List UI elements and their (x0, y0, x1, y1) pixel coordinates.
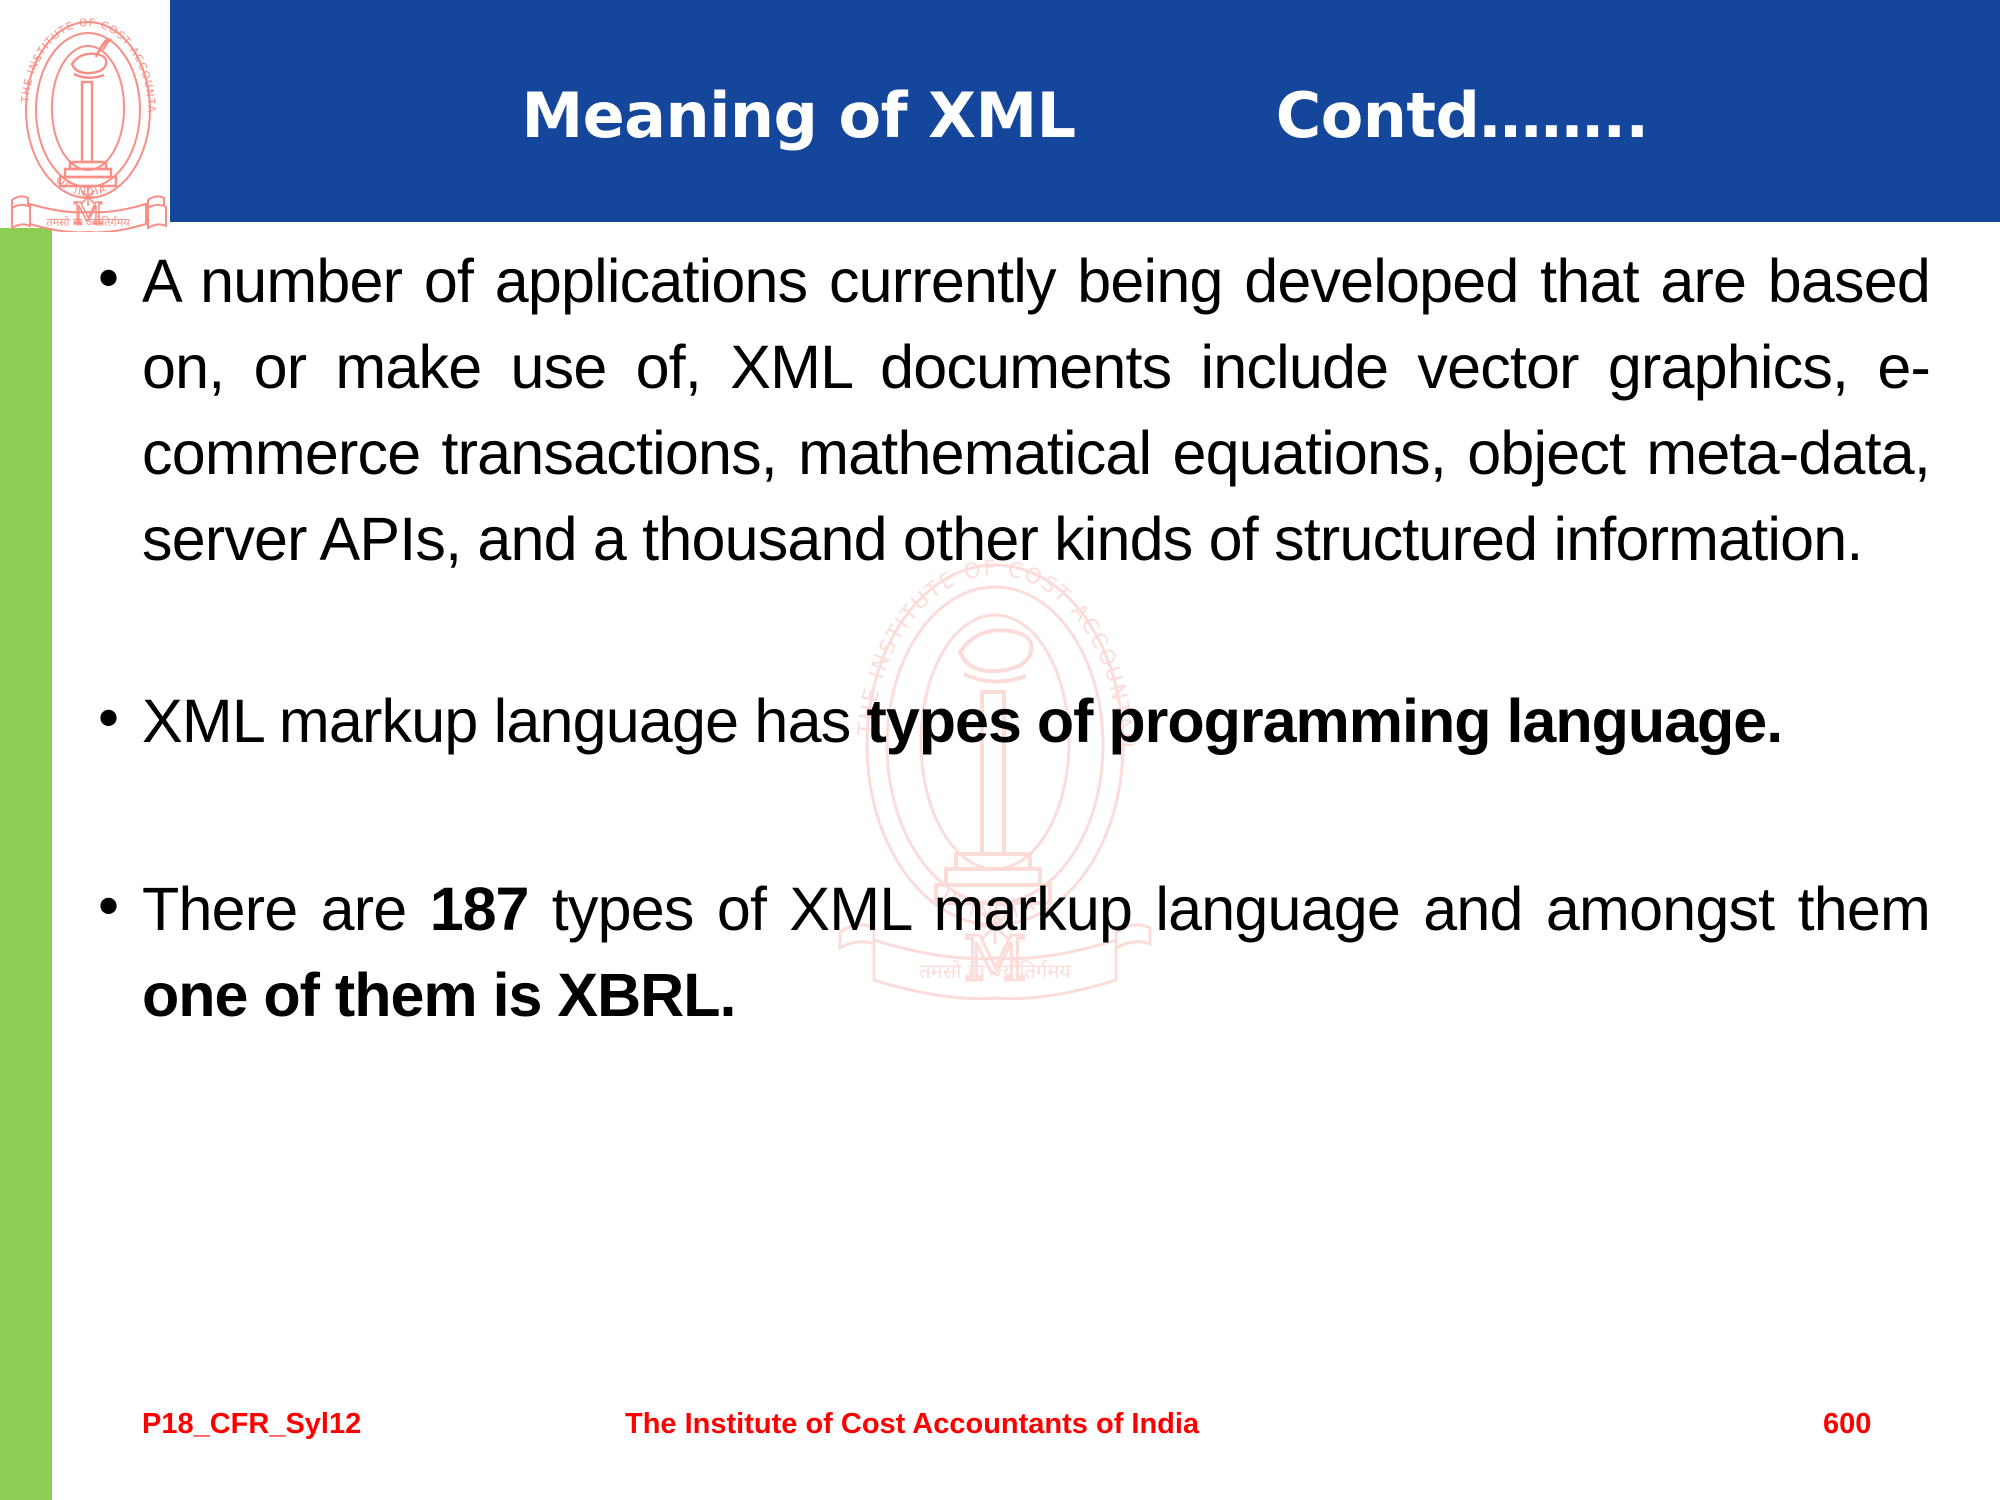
svg-text:M: M (73, 197, 104, 232)
title-inner: Meaning of XML Contd…….. (521, 79, 1648, 152)
bullet-text-1: A number of applications currently being… (142, 238, 1930, 582)
left-green-band (0, 228, 52, 1500)
list-item: • A number of applications currently bei… (70, 238, 1930, 582)
footer-institute-name: The Institute of Cost Accountants of Ind… (625, 1408, 1199, 1441)
list-item: • XML markup language has types of progr… (70, 678, 1930, 764)
icai-logo: THE INSTITUTE OF COST ACCOUNTANTS OF IND… (8, 2, 168, 232)
bullet-marker: • (70, 678, 142, 764)
list-item: • There are 187 types of XML markup lang… (70, 866, 1930, 1038)
slide-body: • A number of applications currently bei… (70, 238, 1970, 1358)
title-bar: Meaning of XML Contd…….. (170, 0, 2000, 222)
bullet-text-2: XML markup language has types of program… (142, 678, 1930, 764)
spacer (70, 764, 1970, 866)
slide-footer: P18_CFR_Syl12 The Institute of Cost Acco… (0, 1408, 2000, 1468)
bullet-marker: • (70, 238, 142, 324)
footer-page-number: 600 (1823, 1408, 1871, 1441)
slide-canvas: Meaning of XML Contd…….. THE INSTITUTE O… (0, 0, 2000, 1500)
page-title: Meaning of XML (521, 79, 1075, 152)
title-continued-label: Contd…….. (1276, 79, 1649, 152)
bullet-marker: • (70, 866, 142, 952)
bullet-text-3: There are 187 types of XML markup langua… (142, 866, 1930, 1038)
spacer (70, 582, 1970, 678)
footer-syllabus-code: P18_CFR_Syl12 (142, 1408, 361, 1441)
